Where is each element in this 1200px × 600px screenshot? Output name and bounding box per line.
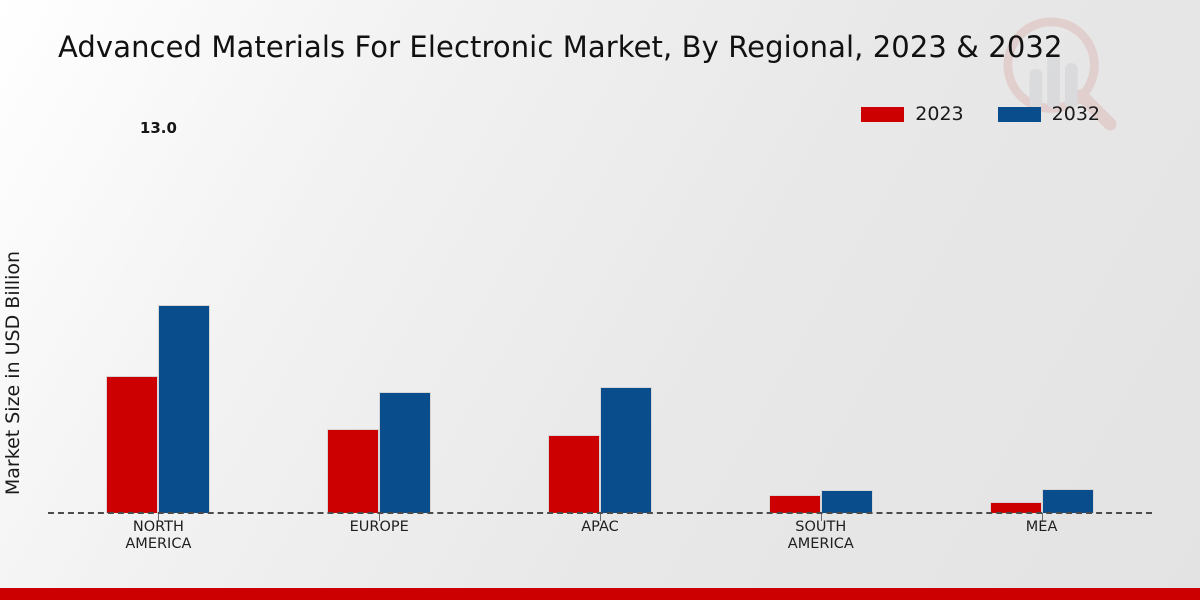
- category-label-south-america: SOUTH AMERICA: [710, 519, 931, 553]
- bar-2023-south-america[interactable]: [769, 495, 821, 513]
- bar-2032-mea[interactable]: [1042, 489, 1094, 513]
- bar-2023-europe[interactable]: [327, 429, 379, 513]
- x-axis-categories: NORTH AMERICA EUROPE APAC SOUTH AMERICA …: [48, 519, 1152, 553]
- category-line-1: EUROPE: [269, 519, 490, 536]
- plot-area: 13.0: [48, 140, 1152, 513]
- bar-pair: [769, 140, 873, 513]
- bar-group-south-america: [710, 140, 931, 513]
- category-label-europe: EUROPE: [269, 519, 490, 553]
- category-line-1: NORTH: [48, 519, 269, 536]
- category-line-1: SOUTH: [710, 519, 931, 536]
- bar-2023-north-america[interactable]: 13.0: [106, 376, 158, 513]
- bar-pair: 13.0: [106, 140, 210, 513]
- x-axis-baseline: [48, 512, 1152, 514]
- bar-2032-europe[interactable]: [379, 392, 431, 513]
- chart-legend: 2023 2032: [861, 103, 1100, 125]
- bar-pair: [327, 140, 431, 513]
- legend-item-2032[interactable]: 2032: [998, 103, 1100, 125]
- bar-2032-north-america[interactable]: [158, 305, 210, 513]
- legend-swatch-2032: [998, 107, 1041, 122]
- legend-item-2023[interactable]: 2023: [861, 103, 963, 125]
- category-line-2: AMERICA: [710, 536, 931, 553]
- category-line-2: AMERICA: [48, 536, 269, 553]
- legend-swatch-2023: [861, 107, 904, 122]
- footer-accent-bar: [0, 588, 1200, 600]
- bar-2032-apac[interactable]: [600, 387, 652, 513]
- category-line-1: APAC: [490, 519, 711, 536]
- category-label-mea: MEA: [931, 519, 1152, 553]
- bar-group-apac: [490, 140, 711, 513]
- bar-group-mea: [931, 140, 1152, 513]
- bar-2023-apac[interactable]: [548, 435, 600, 513]
- category-label-apac: APAC: [490, 519, 711, 553]
- bar-2032-south-america[interactable]: [821, 490, 873, 513]
- bar-pair: [990, 140, 1094, 513]
- legend-label-2032: 2032: [1052, 103, 1100, 125]
- legend-label-2023: 2023: [915, 103, 963, 125]
- y-axis-label: Market Size in USD Billion: [2, 208, 24, 538]
- bar-value-label: 13.0: [140, 119, 177, 137]
- bar-group-north-america: 13.0: [48, 140, 269, 513]
- bar-group-europe: [269, 140, 490, 513]
- category-label-north-america: NORTH AMERICA: [48, 519, 269, 553]
- category-line-1: MEA: [931, 519, 1152, 536]
- bar-pair: [548, 140, 652, 513]
- chart-title: Advanced Materials For Electronic Market…: [58, 30, 1063, 64]
- bar-groups: 13.0: [48, 140, 1152, 513]
- chart-container: Advanced Materials For Electronic Market…: [0, 0, 1200, 600]
